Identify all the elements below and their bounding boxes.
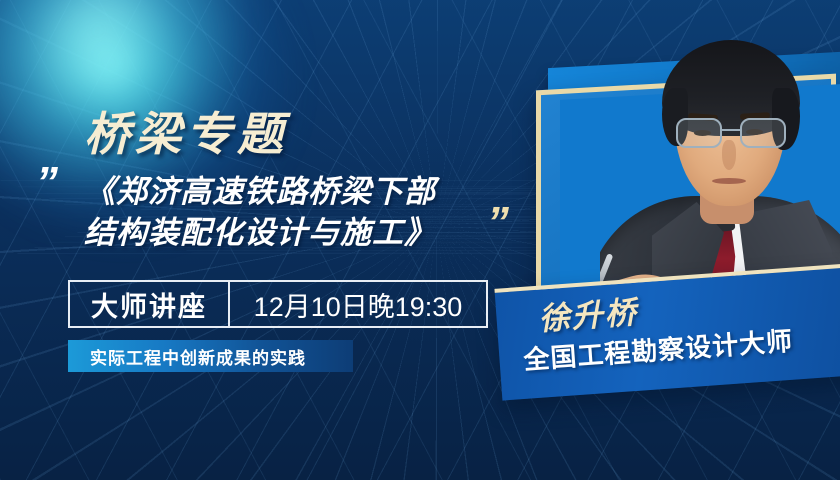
promo-poster: 徐升桥 全国工程勘察设计大师 桥梁专题 ” ” 《郑济高速铁路桥梁下部 结构装配… [0, 0, 840, 480]
eyeglass-lens-left [676, 118, 722, 148]
eyeglass-bridge [722, 129, 740, 131]
nameplate-text-group: 徐升桥 全国工程勘察设计大师 [538, 286, 794, 375]
lecture-datetime: 12月10日晚19:30 [230, 282, 486, 326]
eyeglass-lens-right [740, 118, 786, 148]
lecture-type-label: 大师讲座 [70, 282, 230, 326]
lecture-subtitle-bar: 实际工程中创新成果的实践 [68, 340, 353, 372]
lecture-subtitle-text: 实际工程中创新成果的实践 [90, 344, 306, 369]
quote-open-mark: ” [36, 170, 56, 196]
page-title: 桥梁专题 [84, 98, 288, 164]
book-title-line-1: 《郑济高速铁路桥梁下部 [84, 172, 494, 213]
lecture-info-box: 大师讲座 12月10日晚19:30 [68, 280, 488, 328]
lecture-book-title: 《郑济高速铁路桥梁下部 结构装配化设计与施工》 [84, 172, 494, 254]
portrait-nose [722, 140, 736, 170]
book-title-line-2: 结构装配化设计与施工》 [84, 213, 494, 254]
portrait-mouth [712, 178, 746, 184]
